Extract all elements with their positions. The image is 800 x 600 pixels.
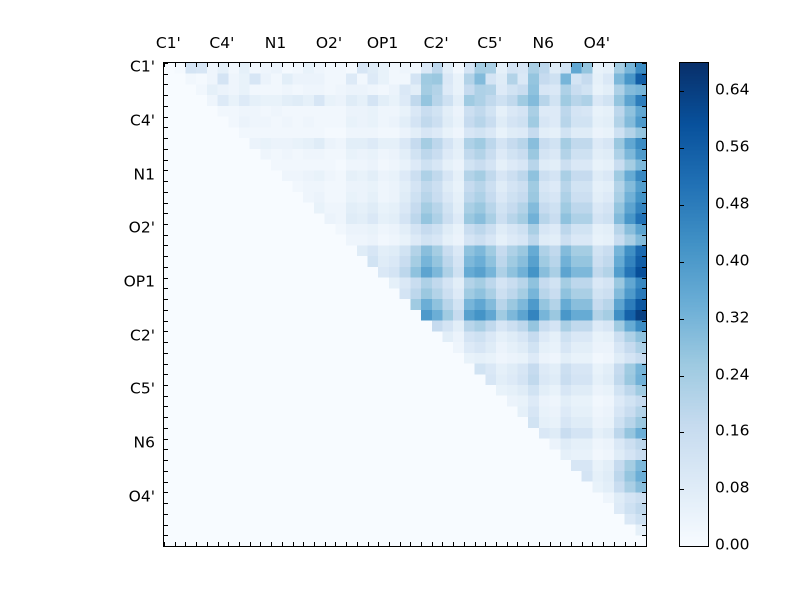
- y-tick-mark: [642, 74, 646, 75]
- x-tick-mark: [293, 542, 294, 546]
- y-tick-mark: [642, 224, 646, 225]
- colorbar-axes: [679, 62, 709, 547]
- y-tick-mark: [642, 535, 646, 536]
- y-tick-mark: [642, 385, 646, 386]
- y-tick-mark: [164, 192, 168, 193]
- y-tick-mark: [164, 535, 168, 536]
- x-tick-mark: [453, 63, 454, 67]
- x-tick-mark: [293, 63, 294, 67]
- colorbar-tick-label: 0.48: [715, 196, 750, 212]
- x-tick-mark: [314, 542, 315, 546]
- x-tick-mark: [346, 542, 347, 546]
- y-tick-mark: [642, 245, 646, 246]
- y-tick-label: N1: [0, 167, 155, 183]
- x-tick-mark: [603, 63, 604, 67]
- y-tick-mark: [642, 492, 646, 493]
- x-tick-mark: [496, 542, 497, 546]
- colorbar-tick-mark: [680, 489, 684, 490]
- y-tick-mark: [164, 267, 168, 268]
- x-tick-mark: [389, 542, 390, 546]
- x-tick-mark: [550, 542, 551, 546]
- x-tick-mark: [582, 63, 583, 67]
- x-tick-mark: [560, 63, 561, 67]
- y-tick-mark: [642, 449, 646, 450]
- y-tick-mark: [642, 471, 646, 472]
- x-tick-mark: [335, 542, 336, 546]
- y-tick-mark: [642, 213, 646, 214]
- y-tick-mark: [164, 117, 168, 118]
- x-tick-mark: [410, 63, 411, 67]
- x-tick-mark: [539, 542, 540, 546]
- x-tick-label: C5': [477, 36, 502, 52]
- colorbar-tick-mark: [680, 205, 684, 206]
- y-tick-mark: [164, 460, 168, 461]
- y-tick-mark: [164, 525, 168, 526]
- y-tick-mark: [642, 181, 646, 182]
- y-tick-label: OP1: [0, 274, 155, 290]
- x-tick-mark: [475, 542, 476, 546]
- colorbar-tick-label: 0.32: [715, 310, 750, 326]
- y-tick-mark: [642, 95, 646, 96]
- colorbar-tick-label: 0.00: [715, 537, 750, 553]
- x-tick-mark: [592, 542, 593, 546]
- figure-canvas: C1'C4'N1O2'OP1C2'C5'N6O4' C1'C4'N1O2'OP1…: [0, 0, 800, 600]
- y-tick-mark: [642, 331, 646, 332]
- y-tick-mark: [164, 235, 168, 236]
- x-tick-mark: [517, 63, 518, 67]
- x-tick-mark: [271, 63, 272, 67]
- x-tick-label: N1: [265, 36, 286, 52]
- x-tick-mark: [239, 542, 240, 546]
- y-tick-label: O2': [0, 221, 155, 237]
- y-tick-mark: [164, 385, 168, 386]
- x-tick-mark: [357, 542, 358, 546]
- x-tick-mark: [528, 542, 529, 546]
- y-tick-mark: [164, 514, 168, 515]
- y-tick-mark: [642, 353, 646, 354]
- y-tick-mark: [164, 406, 168, 407]
- x-tick-mark: [442, 63, 443, 67]
- y-tick-mark: [164, 492, 168, 493]
- y-tick-mark: [642, 138, 646, 139]
- colorbar-tick-mark: [680, 319, 684, 320]
- x-tick-label: O2': [316, 36, 342, 52]
- x-tick-mark: [528, 63, 529, 67]
- x-tick-mark: [410, 542, 411, 546]
- y-tick-mark: [164, 503, 168, 504]
- x-tick-mark: [582, 542, 583, 546]
- y-tick-label: C5': [0, 382, 155, 398]
- y-tick-mark: [164, 245, 168, 246]
- y-tick-mark: [164, 342, 168, 343]
- y-tick-mark: [164, 170, 168, 171]
- x-tick-mark: [571, 542, 572, 546]
- x-tick-mark: [271, 542, 272, 546]
- x-tick-mark: [560, 542, 561, 546]
- y-tick-mark: [642, 106, 646, 107]
- x-tick-label: C2': [424, 36, 449, 52]
- y-tick-mark: [642, 310, 646, 311]
- x-tick-mark: [346, 63, 347, 67]
- y-tick-mark: [164, 449, 168, 450]
- y-tick-mark: [164, 364, 168, 365]
- y-tick-mark: [642, 482, 646, 483]
- x-tick-mark: [335, 63, 336, 67]
- y-tick-mark: [164, 138, 168, 139]
- colorbar-tick-mark: [680, 376, 684, 377]
- y-tick-mark: [642, 267, 646, 268]
- colorbar-tick-mark: [680, 148, 684, 149]
- y-tick-mark: [642, 406, 646, 407]
- x-tick-mark: [250, 63, 251, 67]
- x-tick-mark: [485, 542, 486, 546]
- y-tick-mark: [642, 525, 646, 526]
- colorbar-tick-mark: [680, 262, 684, 263]
- y-tick-mark: [642, 374, 646, 375]
- x-tick-mark: [218, 542, 219, 546]
- x-tick-mark: [464, 63, 465, 67]
- y-tick-mark: [164, 213, 168, 214]
- y-tick-mark: [164, 84, 168, 85]
- x-tick-mark: [571, 63, 572, 67]
- y-tick-mark: [642, 428, 646, 429]
- y-tick-mark: [164, 321, 168, 322]
- y-tick-mark: [164, 471, 168, 472]
- y-tick-mark: [642, 84, 646, 85]
- x-tick-mark: [496, 63, 497, 67]
- y-tick-mark: [642, 514, 646, 515]
- x-tick-mark: [442, 542, 443, 546]
- x-tick-mark: [421, 63, 422, 67]
- y-tick-label: C1': [0, 60, 155, 76]
- y-tick-mark: [164, 396, 168, 397]
- x-tick-mark: [389, 63, 390, 67]
- x-tick-mark: [228, 542, 229, 546]
- y-tick-mark: [642, 256, 646, 257]
- x-tick-mark: [635, 63, 636, 67]
- y-tick-mark: [164, 546, 168, 547]
- x-tick-mark: [228, 63, 229, 67]
- x-tick-mark: [625, 63, 626, 67]
- colorbar-tick-mark: [680, 432, 684, 433]
- y-tick-mark: [164, 288, 168, 289]
- x-tick-mark: [453, 542, 454, 546]
- x-tick-mark: [603, 542, 604, 546]
- y-tick-label: N6: [0, 435, 155, 451]
- y-tick-mark: [642, 117, 646, 118]
- y-tick-mark: [642, 439, 646, 440]
- y-tick-mark: [164, 374, 168, 375]
- y-tick-mark: [164, 181, 168, 182]
- heatmap-image: [164, 63, 646, 546]
- x-tick-mark: [239, 63, 240, 67]
- y-tick-mark: [642, 160, 646, 161]
- x-tick-mark: [517, 542, 518, 546]
- y-tick-mark: [642, 417, 646, 418]
- y-tick-mark: [164, 149, 168, 150]
- x-tick-label: OP1: [367, 36, 398, 52]
- x-tick-label: C4': [209, 36, 234, 52]
- colorbar-tick-label: 0.56: [715, 139, 750, 155]
- x-tick-mark: [207, 63, 208, 67]
- x-tick-mark: [314, 63, 315, 67]
- x-tick-mark: [464, 542, 465, 546]
- colorbar-gradient: [680, 63, 708, 546]
- y-tick-mark: [164, 160, 168, 161]
- colorbar-tick-mark: [680, 91, 684, 92]
- y-tick-mark: [164, 299, 168, 300]
- x-tick-mark: [218, 63, 219, 67]
- y-tick-mark: [642, 149, 646, 150]
- x-tick-mark: [378, 63, 379, 67]
- x-tick-mark: [614, 63, 615, 67]
- x-tick-mark: [507, 63, 508, 67]
- x-tick-mark: [646, 542, 647, 546]
- x-tick-label: C1': [156, 36, 181, 52]
- y-tick-mark: [642, 364, 646, 365]
- x-tick-mark: [625, 542, 626, 546]
- x-tick-mark: [196, 63, 197, 67]
- x-tick-mark: [282, 63, 283, 67]
- colorbar-tick-label: 0.08: [715, 480, 750, 496]
- x-tick-mark: [175, 63, 176, 67]
- y-tick-mark: [164, 203, 168, 204]
- colorbar-tick-label: 0.24: [715, 367, 750, 383]
- x-tick-mark: [635, 542, 636, 546]
- x-tick-mark: [282, 542, 283, 546]
- x-tick-mark: [507, 542, 508, 546]
- y-tick-mark: [642, 127, 646, 128]
- y-tick-mark: [642, 503, 646, 504]
- y-tick-label: O4': [0, 489, 155, 505]
- x-tick-mark: [400, 542, 401, 546]
- y-tick-mark: [642, 235, 646, 236]
- y-tick-mark: [164, 224, 168, 225]
- y-tick-mark: [164, 353, 168, 354]
- x-tick-mark: [368, 63, 369, 67]
- x-tick-mark: [207, 542, 208, 546]
- y-tick-label: C4': [0, 113, 155, 129]
- x-tick-mark: [485, 63, 486, 67]
- colorbar-tick-label: 0.64: [715, 83, 750, 99]
- x-tick-label: N6: [533, 36, 554, 52]
- y-tick-mark: [642, 203, 646, 204]
- x-tick-label: O4': [584, 36, 610, 52]
- heatmap-axes: [163, 62, 647, 547]
- x-tick-mark: [378, 542, 379, 546]
- y-tick-mark: [164, 127, 168, 128]
- x-tick-mark: [357, 63, 358, 67]
- y-tick-mark: [164, 95, 168, 96]
- x-tick-mark: [592, 63, 593, 67]
- colorbar-tick-label: 0.16: [715, 424, 750, 440]
- y-tick-mark: [164, 417, 168, 418]
- x-tick-mark: [185, 542, 186, 546]
- x-tick-mark: [550, 63, 551, 67]
- y-tick-mark: [642, 170, 646, 171]
- x-tick-mark: [325, 542, 326, 546]
- y-tick-mark: [642, 321, 646, 322]
- y-tick-mark: [642, 288, 646, 289]
- x-tick-mark: [432, 542, 433, 546]
- x-tick-mark: [260, 63, 261, 67]
- x-tick-mark: [421, 542, 422, 546]
- y-tick-mark: [164, 256, 168, 257]
- x-tick-mark: [185, 63, 186, 67]
- x-tick-mark: [432, 63, 433, 67]
- y-tick-mark: [642, 192, 646, 193]
- y-tick-mark: [164, 106, 168, 107]
- x-tick-mark: [196, 542, 197, 546]
- x-tick-mark: [614, 542, 615, 546]
- x-tick-mark: [303, 63, 304, 67]
- y-tick-mark: [164, 482, 168, 483]
- x-tick-mark: [175, 542, 176, 546]
- x-tick-mark: [646, 63, 647, 67]
- y-tick-mark: [164, 63, 168, 64]
- y-tick-mark: [164, 331, 168, 332]
- x-tick-mark: [250, 542, 251, 546]
- y-tick-mark: [642, 396, 646, 397]
- colorbar-tick-label: 0.40: [715, 253, 750, 269]
- y-tick-mark: [642, 278, 646, 279]
- y-tick-mark: [642, 299, 646, 300]
- x-tick-mark: [325, 63, 326, 67]
- y-tick-mark: [642, 342, 646, 343]
- y-tick-label: C2': [0, 328, 155, 344]
- y-tick-mark: [164, 278, 168, 279]
- x-tick-mark: [539, 63, 540, 67]
- x-tick-mark: [475, 63, 476, 67]
- x-tick-mark: [303, 542, 304, 546]
- x-tick-mark: [368, 542, 369, 546]
- y-tick-mark: [164, 74, 168, 75]
- colorbar-tick-mark: [680, 546, 684, 547]
- x-tick-mark: [400, 63, 401, 67]
- y-tick-mark: [164, 439, 168, 440]
- y-tick-mark: [164, 310, 168, 311]
- y-tick-mark: [642, 546, 646, 547]
- y-tick-mark: [164, 428, 168, 429]
- y-tick-mark: [642, 460, 646, 461]
- x-tick-mark: [260, 542, 261, 546]
